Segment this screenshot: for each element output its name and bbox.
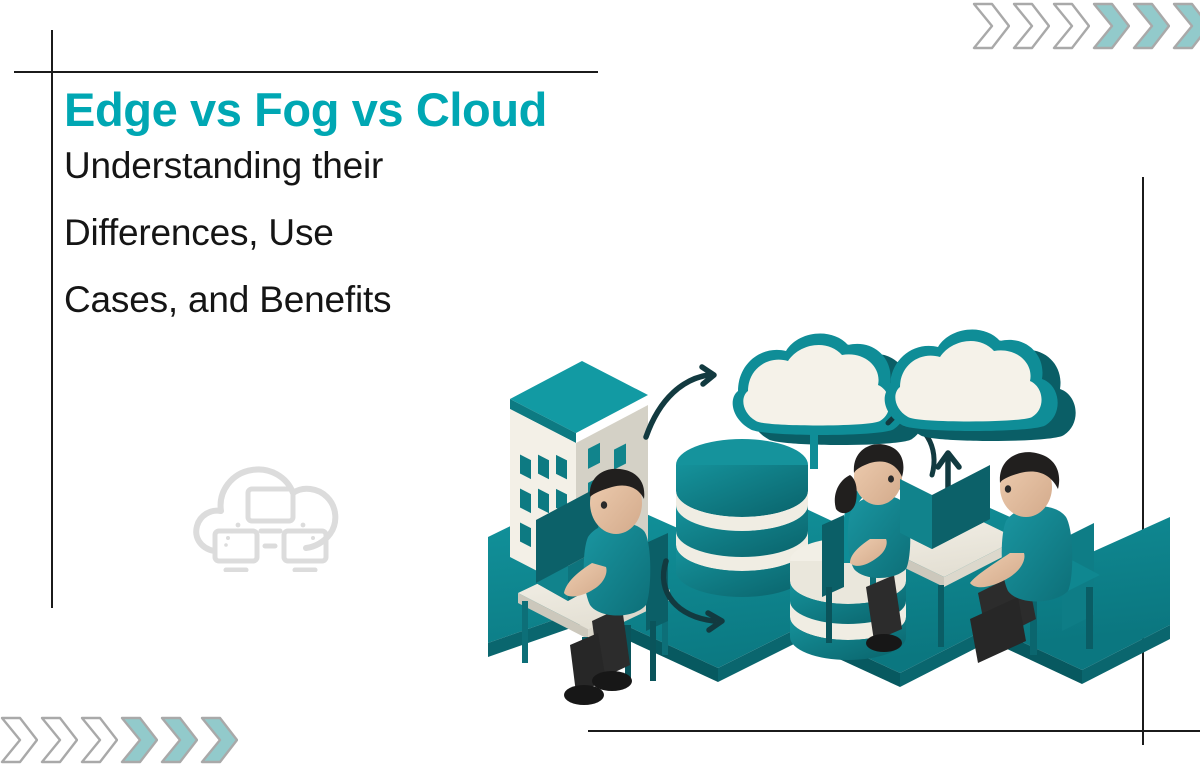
chevron-filled	[200, 716, 238, 764]
rule-left-vertical	[51, 30, 53, 608]
database-cylinder-large	[676, 439, 808, 597]
page-title: Edge vs Fog vs Cloud	[64, 86, 624, 133]
chevron-filled	[1092, 2, 1130, 50]
chevron-outline	[972, 2, 1010, 50]
rule-bottom-horizontal	[588, 730, 1200, 732]
chevron-filled	[1172, 2, 1200, 50]
subtitle-line-1: Understanding their	[64, 147, 624, 184]
chevron-outline	[1012, 2, 1050, 50]
headline-block: Edge vs Fog vs Cloud Understanding their…	[64, 86, 624, 318]
chevron-outline	[40, 716, 78, 764]
chevron-strip-top-right	[972, 2, 1200, 50]
flow-arrow-building-to-cloud	[646, 367, 714, 437]
chevron-filled	[160, 716, 198, 764]
rule-top-horizontal	[14, 71, 598, 73]
subtitle-line-3: Cases, and Benefits	[64, 281, 624, 318]
chevron-filled	[1132, 2, 1170, 50]
chevron-filled	[120, 716, 158, 764]
chevron-strip-bottom-left	[0, 716, 240, 764]
cloud-computing-icon	[190, 447, 352, 572]
chevron-outline	[1052, 2, 1090, 50]
edge-fog-cloud-isometric-scene	[470, 325, 1170, 725]
subtitle-line-2: Differences, Use	[64, 214, 624, 251]
poster-canvas: Edge vs Fog vs Cloud Understanding their…	[0, 0, 1200, 770]
chevron-outline	[80, 716, 118, 764]
cloud-right	[885, 330, 1076, 441]
chevron-outline	[0, 716, 38, 764]
